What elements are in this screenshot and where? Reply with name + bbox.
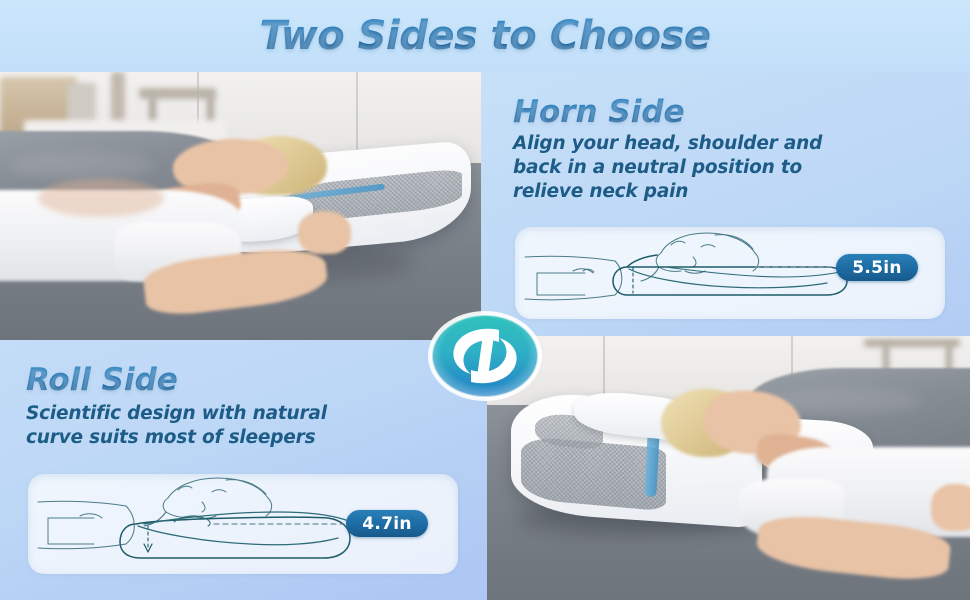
- page-title: Two Sides to Choose: [260, 13, 711, 59]
- shoulder: [38, 179, 163, 217]
- sheet-fold: [777, 389, 922, 413]
- roll-desc-line-1: Scientific design with natural: [26, 402, 446, 426]
- photo-roll-side: [487, 336, 970, 600]
- hand: [298, 211, 351, 254]
- roll-side-diagram-card: 4.7in: [28, 474, 458, 574]
- horn-side-description: Align your head, shoulder and back in a …: [513, 132, 933, 204]
- horn-side-title: Horn Side: [513, 94, 685, 130]
- horn-measurement-badge: 5.5in: [836, 254, 918, 281]
- roll-side-description: Scientific design with natural curve sui…: [26, 402, 446, 450]
- photo-horn-side: [0, 72, 481, 340]
- infographic-root: Two Sides to Choose: [0, 0, 970, 600]
- horn-desc-line-3: relieve neck pain: [513, 180, 933, 204]
- hand: [931, 484, 970, 532]
- horn-desc-line-1: Align your head, shoulder and: [513, 132, 933, 156]
- bedroom-scene-horn: [0, 72, 481, 340]
- sheet-fold: [10, 152, 154, 179]
- brand-monogram-logo: [425, 308, 545, 404]
- roll-side-title: Roll Side: [26, 362, 178, 398]
- horn-side-diagram-card: 5.5in: [515, 227, 945, 319]
- title-bar: Two Sides to Choose: [0, 0, 970, 72]
- bedroom-scene-roll: [487, 336, 970, 600]
- roll-desc-line-2: curve suits most of sleepers: [26, 426, 446, 450]
- roll-measurement-badge: 4.7in: [346, 510, 428, 537]
- horn-desc-line-2: back in a neutral position to: [513, 156, 933, 180]
- brand-logo: [425, 308, 545, 404]
- panel-roll-side: Roll Side Scientific design with natural…: [0, 336, 481, 600]
- panel-horn-side: Horn Side Align your head, shoulder and …: [487, 72, 970, 334]
